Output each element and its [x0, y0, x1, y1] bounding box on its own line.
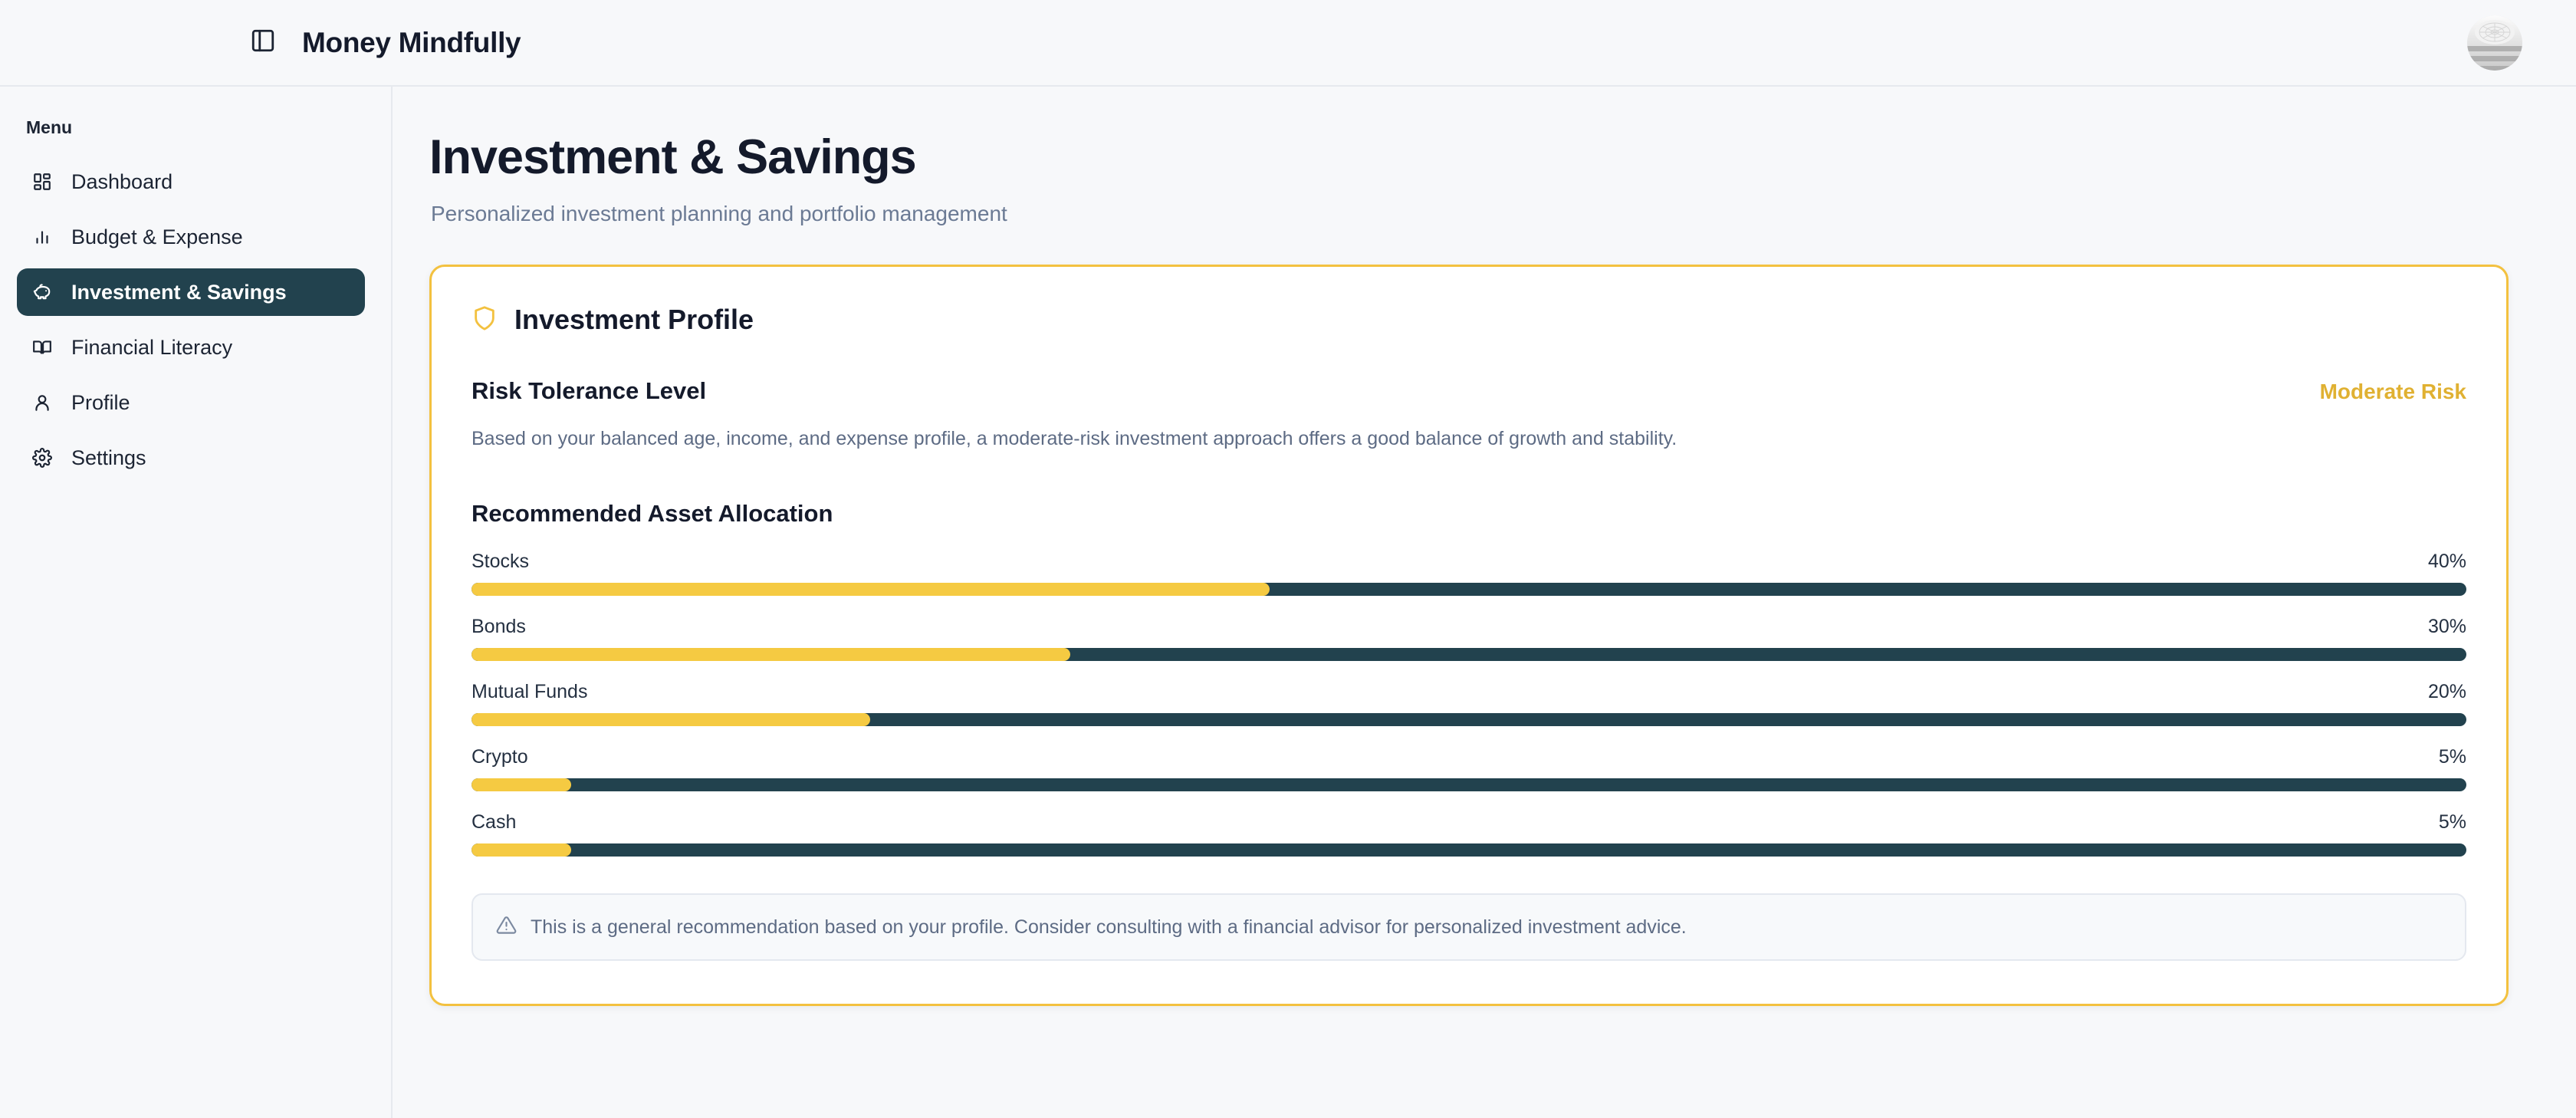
allocation-bar-track	[472, 843, 2466, 857]
risk-level-badge: Moderate Risk	[2320, 380, 2466, 404]
allocation-bar-fill	[472, 583, 1270, 596]
sidebar-item-label: Financial Literacy	[71, 336, 232, 360]
disclaimer-note: This is a general recommendation based o…	[472, 893, 2466, 961]
allocation-percent: 5%	[2439, 811, 2466, 834]
sidebar-item-label: Budget & Expense	[71, 225, 243, 249]
user-icon	[32, 393, 61, 413]
page-subtitle: Personalized investment planning and por…	[431, 202, 2530, 226]
allocation-percent: 5%	[2439, 746, 2466, 768]
layout-grid-icon	[32, 172, 61, 192]
sidebar: Menu Dashboard Budget & Expense	[0, 87, 393, 1118]
allocation-name: Bonds	[472, 616, 526, 638]
allocation-percent: 20%	[2428, 681, 2466, 703]
top-bar: Money Mindfully	[0, 0, 2576, 87]
shield-icon	[472, 305, 498, 335]
sidebar-item-budget-expense[interactable]: Budget & Expense	[17, 213, 365, 261]
allocation-bar-fill	[472, 778, 571, 791]
allocation-name: Crypto	[472, 746, 528, 768]
bar-chart-icon	[32, 227, 61, 247]
sidebar-item-profile[interactable]: Profile	[17, 379, 365, 426]
sidebar-item-label: Settings	[71, 446, 146, 470]
book-open-icon	[32, 337, 61, 357]
page-title: Investment & Savings	[429, 130, 2530, 185]
sidebar-item-dashboard[interactable]: Dashboard	[17, 158, 365, 206]
allocation-name: Stocks	[472, 551, 529, 573]
avatar[interactable]	[2467, 15, 2522, 71]
allocation-bar-track	[472, 713, 2466, 726]
allocation-percent: 40%	[2428, 551, 2466, 573]
disclaimer-text: This is a general recommendation based o…	[531, 916, 1687, 939]
gear-icon	[32, 448, 61, 468]
sidebar-item-investment-savings[interactable]: Investment & Savings	[17, 268, 365, 316]
app-brand-title: Money Mindfully	[302, 27, 521, 59]
allocation-row: Bonds 30%	[472, 616, 2466, 661]
card-title: Investment Profile	[514, 304, 754, 336]
allocation-row: Stocks 40%	[472, 551, 2466, 596]
sidebar-item-financial-literacy[interactable]: Financial Literacy	[17, 324, 365, 371]
allocation-row: Crypto 5%	[472, 746, 2466, 791]
piggy-bank-icon	[32, 281, 61, 303]
risk-tolerance-label: Risk Tolerance Level	[472, 377, 706, 405]
allocation-bar-fill	[472, 843, 571, 857]
panel-left-icon	[250, 28, 276, 58]
main-content: Investment & Savings Personalized invest…	[394, 87, 2576, 1118]
allocation-percent: 30%	[2428, 616, 2466, 638]
sidebar-item-settings[interactable]: Settings	[17, 434, 365, 482]
allocation-section-title: Recommended Asset Allocation	[472, 500, 2466, 528]
allocation-bar-track	[472, 583, 2466, 596]
risk-tolerance-row: Risk Tolerance Level Moderate Risk	[472, 377, 2466, 405]
allocation-bar-track	[472, 778, 2466, 791]
allocation-bar-track	[472, 648, 2466, 661]
investment-profile-card: Investment Profile Risk Tolerance Level …	[429, 265, 2509, 1006]
sidebar-section-label: Menu	[26, 117, 391, 138]
allocation-list: Stocks 40% Bonds 30% Mutual Funds	[472, 551, 2466, 857]
allocation-row: Mutual Funds 20%	[472, 681, 2466, 726]
sidebar-item-label: Dashboard	[71, 170, 172, 194]
allocation-name: Cash	[472, 811, 516, 834]
allocation-bar-fill	[472, 713, 870, 726]
warning-triangle-icon	[496, 915, 517, 939]
sidebar-toggle-button[interactable]	[242, 22, 284, 64]
allocation-row: Cash 5%	[472, 811, 2466, 857]
allocation-bar-fill	[472, 648, 1070, 661]
risk-description: Based on your balanced age, income, and …	[472, 425, 2466, 452]
sidebar-item-label: Profile	[71, 391, 130, 415]
card-header: Investment Profile	[472, 304, 2466, 336]
allocation-name: Mutual Funds	[472, 681, 587, 703]
sidebar-item-label: Investment & Savings	[71, 281, 287, 304]
